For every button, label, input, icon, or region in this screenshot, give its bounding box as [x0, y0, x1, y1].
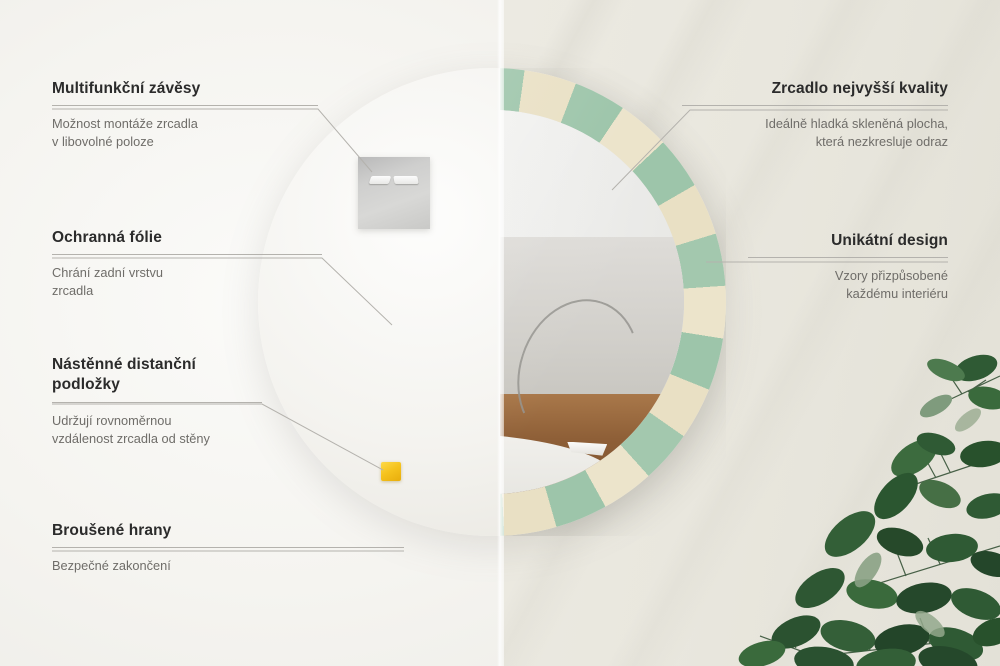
wall-spacer-pad: [381, 462, 401, 481]
glass-reflection-sheen: [500, 110, 684, 494]
reflection-lamp-shade: [567, 442, 607, 456]
callout-divider: [682, 105, 948, 106]
callout-divider: [52, 402, 262, 403]
hanger-keyhole-slot-right: [393, 176, 418, 184]
callout-zrcadlo-nejvyssi-kvality: Zrcadlo nejvyšší kvality Ideálně hladká …: [682, 80, 948, 150]
mirror-glass: [500, 110, 684, 494]
reflection-sofa: [500, 237, 684, 417]
reflection-floor: [500, 394, 684, 494]
callout-brousene-hrany: Broušené hrany Bezpečné zakončení: [52, 522, 404, 575]
infographic-canvas: Multifunkční závěsy Možnost montáže zrca…: [0, 0, 1000, 666]
callout-title: Zrcadlo nejvyšší kvality: [682, 80, 948, 98]
callout-multifunkcni-zavesy: Multifunkční závěsy Možnost montáže zrca…: [52, 80, 318, 150]
callout-description: Bezpečné zakončení: [52, 557, 404, 575]
callout-description: Možnost montáže zrcadla v libovolné polo…: [52, 115, 318, 150]
reflection-rug: [500, 433, 619, 494]
product-mirror: [258, 68, 726, 536]
callout-title: Broušené hrany: [52, 522, 404, 540]
reflection-wall: [500, 110, 684, 494]
callout-divider: [52, 254, 322, 255]
reflection-throw-blanket: [500, 225, 523, 425]
callout-unikatni-design: Unikátní design Vzory přizpůsobené každé…: [748, 232, 948, 302]
callout-ochranna-folie: Ochranná fólie Chrání zadní vrstvu zrcad…: [52, 229, 322, 299]
callout-divider: [52, 105, 318, 106]
wall-hanger-bracket: [358, 157, 430, 229]
callout-title: Unikátní design: [748, 232, 948, 250]
callout-divider: [748, 257, 948, 258]
callout-description: Udržují rovnoměrnou vzdálenost zrcadla o…: [52, 412, 262, 447]
callout-title: Multifunkční závěsy: [52, 80, 318, 98]
reflection-arc-lamp: [500, 283, 658, 462]
callout-title: Nástěnné distanční podložky: [52, 355, 262, 395]
callout-description: Vzory přizpůsobené každému interiéru: [748, 267, 948, 302]
callout-nastenne-distancni-podlozky: Nástěnné distanční podložky Udržují rovn…: [52, 355, 262, 448]
reflection-sofa-back: [500, 237, 684, 310]
callout-divider: [52, 547, 404, 548]
callout-description: Ideálně hladká skleněná plocha, která ne…: [682, 115, 948, 150]
hanger-keyhole-slot-left: [369, 176, 392, 184]
callout-title: Ochranná fólie: [52, 229, 322, 247]
callout-description: Chrání zadní vrstvu zrcadla: [52, 264, 322, 299]
